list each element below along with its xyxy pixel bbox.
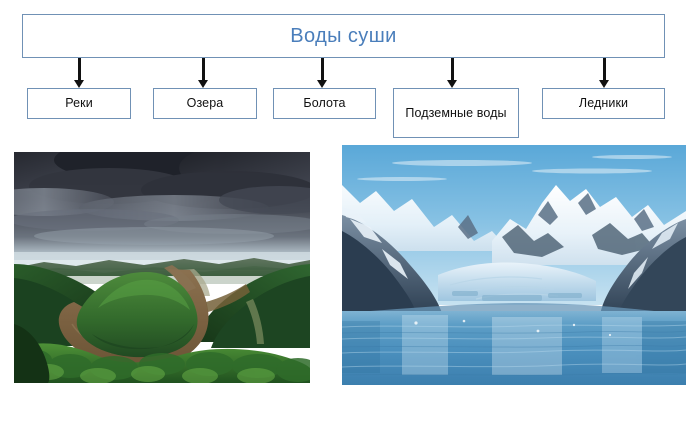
slide-canvas: Воды суши Реки Озера Болота Подземные во…	[0, 0, 700, 423]
diagram-root-label: Воды суши	[290, 22, 396, 51]
river-meander-photo	[14, 152, 310, 383]
river-meander-image	[14, 152, 310, 383]
arrow-down-icon-5	[603, 58, 606, 81]
arrow-down-icon-4	[451, 58, 454, 81]
glacier-bay-image	[342, 145, 686, 385]
node-groundwater-label: Подземные воды	[405, 104, 506, 123]
node-lakes[interactable]: Озера	[153, 88, 257, 119]
node-glaciers[interactable]: Ледники	[542, 88, 665, 119]
node-swamps[interactable]: Болота	[273, 88, 376, 119]
node-glaciers-label: Ледники	[579, 94, 628, 112]
arrow-down-icon-3	[321, 58, 324, 81]
node-rivers-label: Реки	[65, 94, 93, 112]
node-groundwater[interactable]: Подземные воды	[393, 88, 519, 138]
node-lakes-label: Озера	[187, 94, 224, 112]
glacier-bay-photo	[342, 145, 686, 385]
arrow-down-icon-1	[78, 58, 81, 81]
arrow-down-icon-2	[202, 58, 205, 81]
node-rivers[interactable]: Реки	[27, 88, 131, 119]
node-swamps-label: Болота	[303, 94, 345, 112]
diagram-root-node[interactable]: Воды суши	[22, 14, 665, 58]
